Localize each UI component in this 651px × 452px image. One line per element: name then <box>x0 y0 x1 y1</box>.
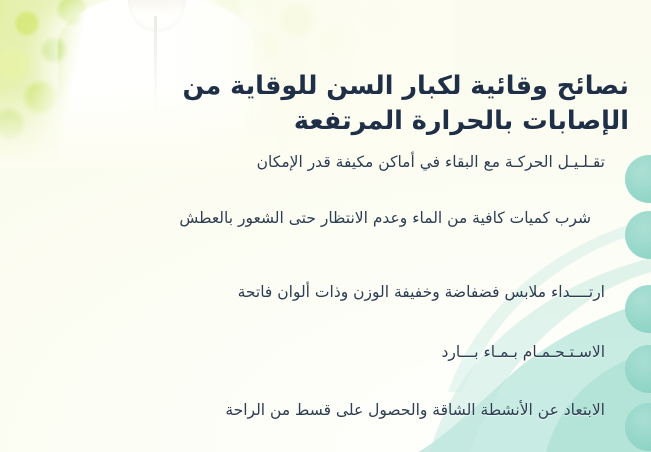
list-item: ارتــــداء ملابس فضفاضة وخفيفة الوزن وذا… <box>0 280 651 336</box>
tip-text: الابتعاد عن الأنشطة الشاقة والحصول على ق… <box>0 398 651 422</box>
tip-text: الاسـتـحـمـام بـمـاء بـــارد <box>0 340 651 364</box>
page-title: نصائح وقائية لكبار السن للوقاية من الإصا… <box>129 69 629 139</box>
title-line-1: نصائح وقائية لكبار السن للوقاية من <box>183 71 630 101</box>
tips-list: تقـلـيـل الحركـة مع البقاء في أماكن مكيف… <box>0 150 651 452</box>
list-item: تقـلـيـل الحركـة مع البقاء في أماكن مكيف… <box>0 150 651 202</box>
tip-text: شرب كميات كافية من الماء وعدم الانتظار ح… <box>0 206 651 230</box>
list-item: شرب كميات كافية من الماء وعدم الانتظار ح… <box>0 206 651 276</box>
tip-text: ارتــــداء ملابس فضفاضة وخفيفة الوزن وذا… <box>0 280 651 304</box>
tip-text: تقـلـيـل الحركـة مع البقاء في أماكن مكيف… <box>0 150 651 174</box>
list-item: الاسـتـحـمـام بـمـاء بـــارد <box>0 340 651 394</box>
list-item: الابتعاد عن الأنشطة الشاقة والحصول على ق… <box>0 398 651 450</box>
infographic-poster: نصائح وقائية لكبار السن للوقاية من الإصا… <box>0 0 651 452</box>
title-line-2: الإصابات بالحرارة المرتفعة <box>129 104 629 139</box>
